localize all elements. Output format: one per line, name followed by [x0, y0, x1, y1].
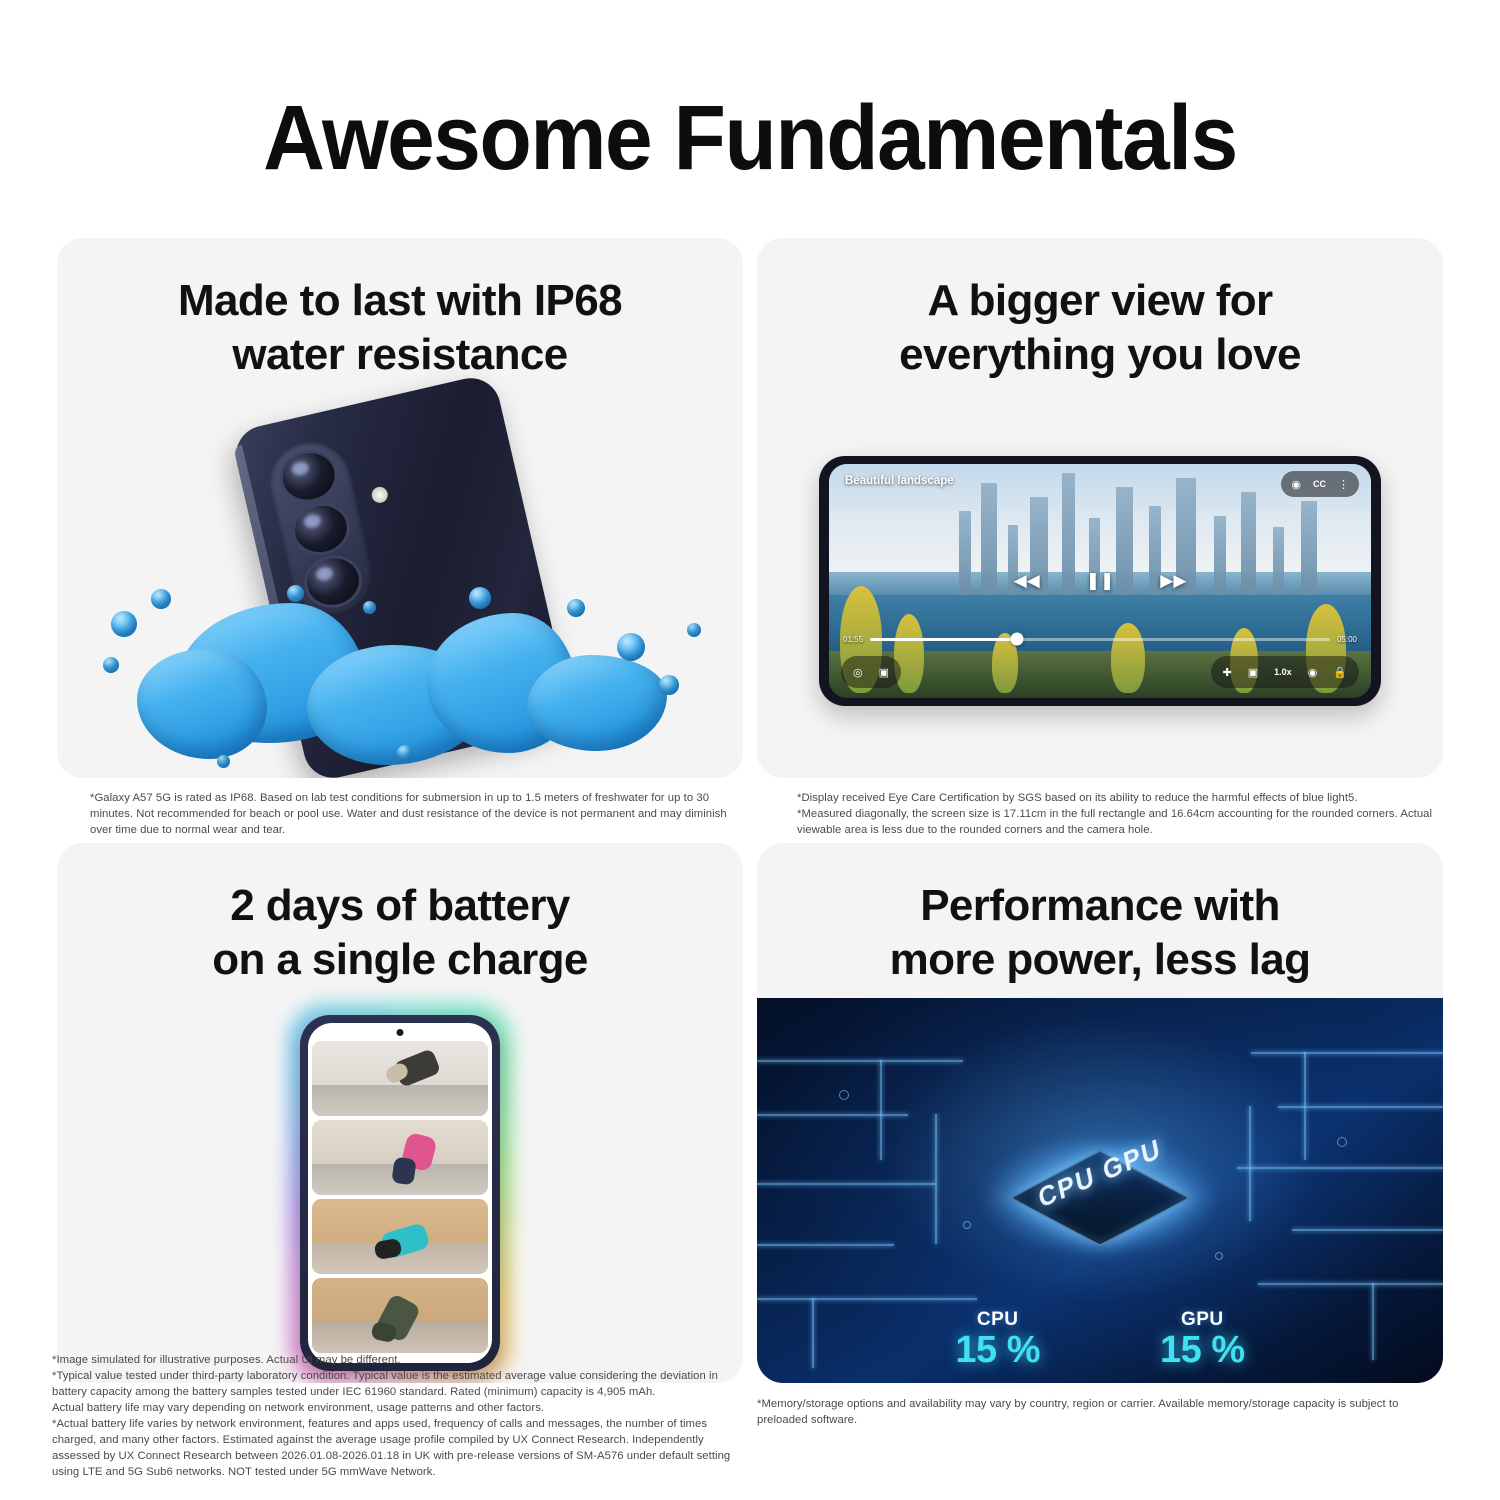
footnote-line: Actual battery life may vary depending o…: [52, 1400, 742, 1416]
sound-icon[interactable]: ◉: [1308, 666, 1318, 679]
card-title-display: A bigger view for everything you love: [757, 274, 1443, 381]
capture-icon[interactable]: ◎: [853, 666, 863, 679]
footnote-performance: *Memory/storage options and availability…: [757, 1396, 1417, 1428]
performance-metrics: CPU 15 % GPU 15 %: [757, 1309, 1443, 1371]
video-clip-item: [312, 1199, 488, 1274]
playback-controls[interactable]: ◀◀ ❚❚ ▶▶: [1014, 571, 1187, 591]
water-splash-graphic: [97, 583, 717, 778]
footnote-line: *Galaxy A57 5G is rated as IP68. Based o…: [90, 790, 730, 838]
footnote-line: *Actual battery life varies by network e…: [52, 1416, 742, 1480]
footnote-line: *Image simulated for illustrative purpos…: [52, 1352, 742, 1368]
video-progress-bar[interactable]: 01:55 05:00: [843, 632, 1357, 646]
brightness-icon[interactable]: ✚: [1223, 666, 1232, 679]
video-left-controls[interactable]: ◎ ▣: [841, 656, 901, 688]
camera-lens-icon: [287, 497, 355, 561]
progress-fill: [870, 638, 1017, 641]
previous-icon[interactable]: ◀◀: [1014, 571, 1040, 591]
camera-lens-icon: [275, 445, 343, 509]
lock-icon[interactable]: 🔒: [1333, 666, 1347, 679]
speed-icon[interactable]: 1.0x: [1274, 667, 1292, 677]
phone-front-frame: [300, 1015, 500, 1371]
card-title-battery: 2 days of battery on a single charge: [57, 879, 743, 986]
metric-label: GPU: [1160, 1309, 1245, 1331]
metric-cpu: CPU 15 %: [955, 1309, 1040, 1371]
metric-value: 15 %: [955, 1331, 1040, 1371]
video-clip-item: [312, 1041, 488, 1116]
more-options-icon[interactable]: ⋮: [1338, 478, 1349, 491]
footnote-line: *Display received Eye Care Certification…: [797, 790, 1447, 806]
metric-label: CPU: [955, 1309, 1040, 1331]
page-title: Awesome Fundamentals: [53, 86, 1448, 191]
video-top-controls[interactable]: ◉ CC ⋮: [1281, 471, 1359, 497]
popup-view-icon[interactable]: ▣: [879, 666, 889, 679]
phone-landscape-frame: Beautiful landscape ◉ CC ⋮ ◀◀ ❚❚ ▶▶: [819, 456, 1381, 706]
video-right-controls[interactable]: ✚ ▣ 1.0x ◉ 🔒: [1211, 656, 1359, 688]
metric-value: 15 %: [1160, 1331, 1245, 1371]
footnote-line: *Measured diagonally, the screen size is…: [797, 806, 1447, 838]
feature-card-performance: Performance with more power, less lag: [757, 843, 1443, 1383]
display-illustration: Beautiful landscape ◉ CC ⋮ ◀◀ ❚❚ ▶▶: [757, 398, 1443, 778]
video-title: Beautiful landscape: [845, 475, 954, 487]
time-total: 05:00: [1337, 635, 1357, 644]
next-icon[interactable]: ▶▶: [1160, 571, 1186, 591]
battery-illustration: [57, 993, 743, 1383]
pause-icon[interactable]: ❚❚: [1086, 571, 1115, 591]
progress-track[interactable]: [870, 638, 1330, 641]
play-circle-icon[interactable]: ◉: [1291, 478, 1301, 491]
footnote-line: *Typical value tested under third-party …: [52, 1368, 742, 1400]
water-resistance-illustration: [57, 388, 743, 778]
front-camera-icon: [397, 1029, 404, 1036]
footnote-battery: *Image simulated for illustrative purpos…: [52, 1352, 742, 1480]
feature-card-display: A bigger view for everything you love: [757, 238, 1443, 778]
progress-handle[interactable]: [1011, 633, 1024, 646]
card-title-performance: Performance with more power, less lag: [757, 879, 1443, 986]
picture-in-picture-icon[interactable]: ▣: [1248, 666, 1258, 679]
time-current: 01:55: [843, 635, 863, 644]
footnote-display: *Display received Eye Care Certification…: [797, 790, 1447, 838]
video-clip-item: [312, 1278, 488, 1353]
processor-chip: CPU GPU: [975, 1110, 1225, 1270]
footnote-durability: *Galaxy A57 5G is rated as IP68. Based o…: [90, 790, 730, 838]
closed-caption-icon[interactable]: CC: [1313, 479, 1326, 489]
phone-screen: [308, 1023, 492, 1363]
video-player-screen: Beautiful landscape ◉ CC ⋮ ◀◀ ❚❚ ▶▶: [829, 464, 1371, 698]
video-clip-item: [312, 1120, 488, 1195]
footnote-line: *Memory/storage options and availability…: [757, 1396, 1417, 1428]
product-feature-page: Awesome Fundamentals Made to last with I…: [0, 0, 1500, 1500]
card-title-durability: Made to last with IP68 water resistance: [57, 274, 743, 381]
feature-card-battery: 2 days of battery on a single charge: [57, 843, 743, 1383]
camera-flash-icon: [370, 485, 389, 504]
feature-card-grid: Made to last with IP68 water resistance: [0, 238, 1500, 1500]
processor-illustration: CPU GPU CPU 15 % GPU 15 %: [757, 998, 1443, 1383]
feature-card-durability: Made to last with IP68 water resistance: [57, 238, 743, 778]
metric-gpu: GPU 15 %: [1160, 1309, 1245, 1371]
video-bottom-controls[interactable]: ◎ ▣ ✚ ▣ 1.0x ◉ 🔒: [841, 656, 1359, 688]
